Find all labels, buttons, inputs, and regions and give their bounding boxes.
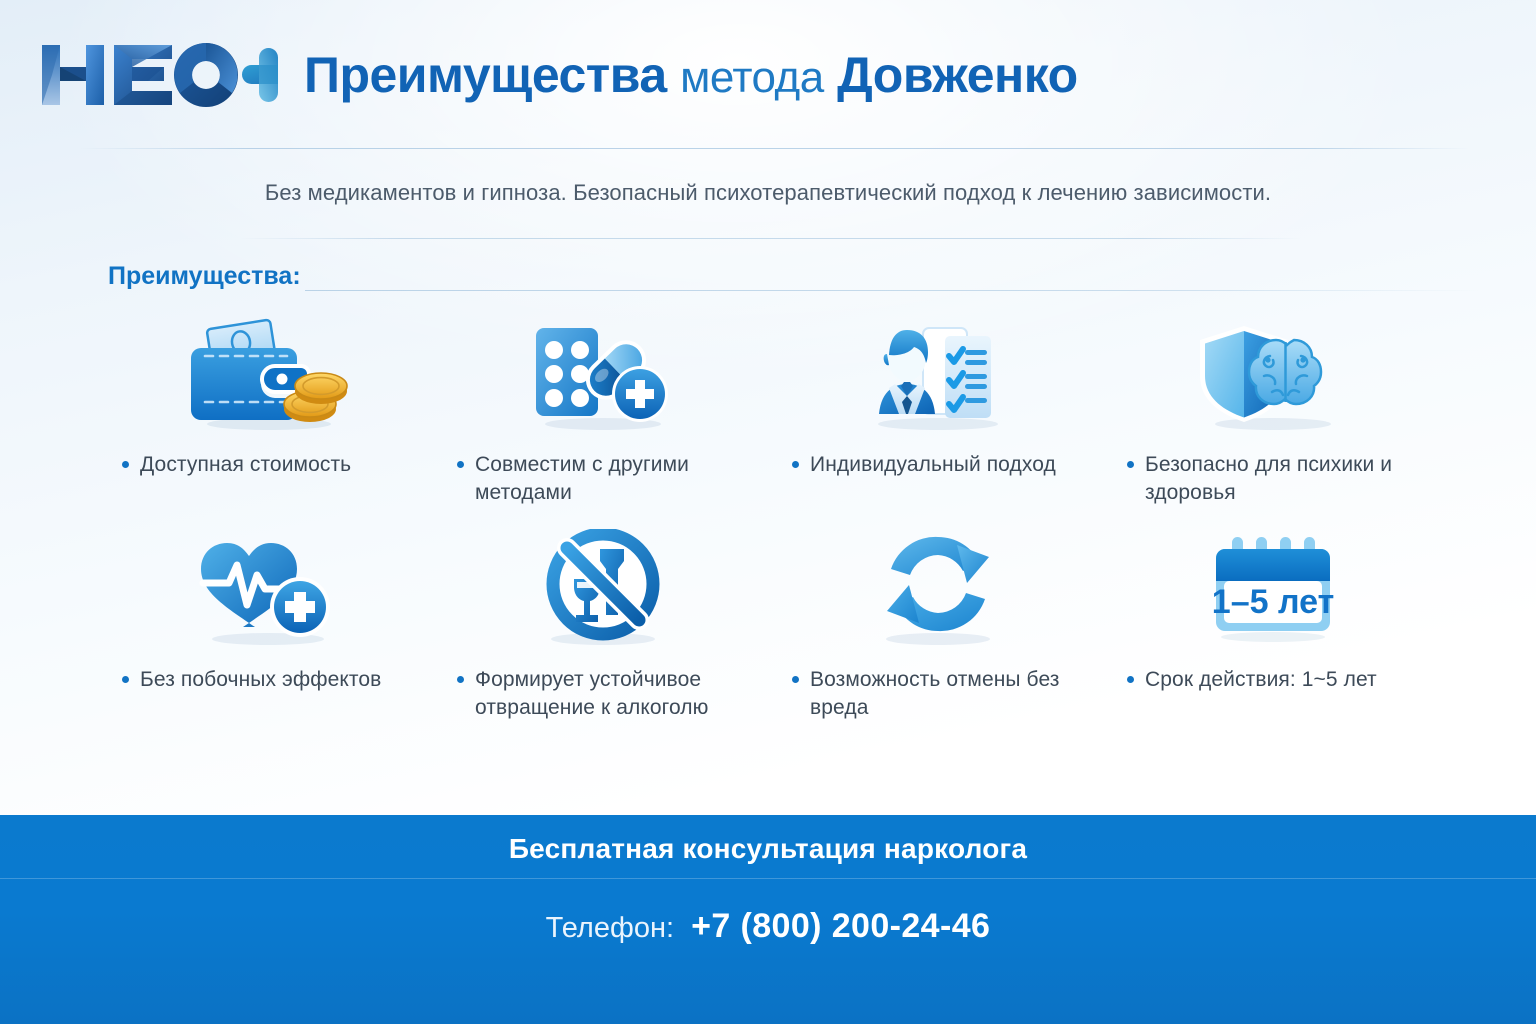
benefit-label: Срок действия: 1~5 лет	[1105, 650, 1440, 694]
benefit-item: Совместим с другими методами	[435, 310, 770, 525]
subtitle-divider	[240, 238, 1300, 239]
benefit-item: Без побочных эффектов	[100, 525, 435, 740]
benefit-item: Доступная стоимость	[100, 310, 435, 525]
shield-brain-icon	[1105, 310, 1440, 435]
footer-cta: Бесплатная консультация нарколога Телефо…	[0, 815, 1536, 1024]
benefit-item: 1–5 лет Срок действия: 1~5 лет	[1105, 525, 1440, 740]
doctor-checklist-icon	[770, 310, 1105, 435]
bullet-dot	[792, 461, 799, 468]
benefit-text: Доступная стоимость	[140, 451, 351, 479]
section-heading: Преимущества:	[108, 262, 301, 291]
benefit-label: Доступная стоимость	[100, 435, 435, 479]
benefit-text: Срок действия: 1~5 лет	[1145, 666, 1377, 694]
bullet-dot	[457, 676, 464, 683]
heart-pulse-plus-icon	[100, 525, 435, 650]
benefit-text: Безопасно для психики и здоровья	[1145, 451, 1407, 506]
benefit-item: Индивидуальный подход	[770, 310, 1105, 525]
subtitle: Без медикаментов и гипноза. Безопасный п…	[0, 180, 1536, 206]
benefit-text: Индивидуальный подход	[810, 451, 1056, 479]
section-divider	[305, 290, 1480, 291]
benefit-label: Индивидуальный подход	[770, 435, 1105, 479]
neo-plus-logo	[38, 37, 278, 113]
benefit-text: Формирует устойчивое отвращение к алкого…	[475, 666, 737, 721]
wallet-coins-icon	[100, 310, 435, 435]
pills-plus-icon	[435, 310, 770, 435]
calendar-badge-text: 1–5 лет	[1211, 583, 1333, 621]
bullet-dot	[1127, 676, 1134, 683]
benefit-label: Формирует устойчивое отвращение к алкого…	[435, 650, 770, 721]
benefit-item: Безопасно для психики и здоровья	[1105, 310, 1440, 525]
benefit-label: Совместим с другими методами	[435, 435, 770, 506]
benefits-grid: Доступная стоимость	[100, 310, 1440, 740]
bullet-dot	[1127, 461, 1134, 468]
benefit-item: Возможность отмены без вреда	[770, 525, 1105, 740]
infographic-poster: Преимущества метода Довженко Без медикам…	[0, 0, 1536, 1024]
footer-divider	[0, 878, 1536, 879]
calendar-years-icon: 1–5 лет	[1105, 525, 1440, 650]
title-part-bold-1: Преимущества	[304, 47, 667, 103]
benefit-text: Возможность отмены без вреда	[810, 666, 1072, 721]
bullet-dot	[122, 676, 129, 683]
benefit-text: Без побочных эффектов	[140, 666, 381, 694]
phone-number[interactable]: +7 (800) 200-24-46	[691, 907, 990, 945]
bullet-dot	[457, 461, 464, 468]
footer-title: Бесплатная консультация нарколога	[0, 815, 1536, 865]
benefit-label: Безопасно для психики и здоровья	[1105, 435, 1440, 506]
benefit-text: Совместим с другими методами	[475, 451, 737, 506]
benefit-item: Формирует устойчивое отвращение к алкого…	[435, 525, 770, 740]
benefit-label: Возможность отмены без вреда	[770, 650, 1105, 721]
title-part-light: метода	[680, 53, 824, 102]
reversible-arrows-icon	[770, 525, 1105, 650]
page-title: Преимущества метода Довженко	[304, 50, 1078, 100]
header-divider	[80, 148, 1470, 149]
bullet-dot	[122, 461, 129, 468]
bullet-dot	[792, 676, 799, 683]
phone-label: Телефон:	[546, 912, 674, 944]
no-alcohol-icon	[435, 525, 770, 650]
header: Преимущества метода Довженко	[0, 0, 1536, 150]
title-part-bold-2: Довженко	[837, 47, 1078, 103]
benefit-label: Без побочных эффектов	[100, 650, 435, 694]
